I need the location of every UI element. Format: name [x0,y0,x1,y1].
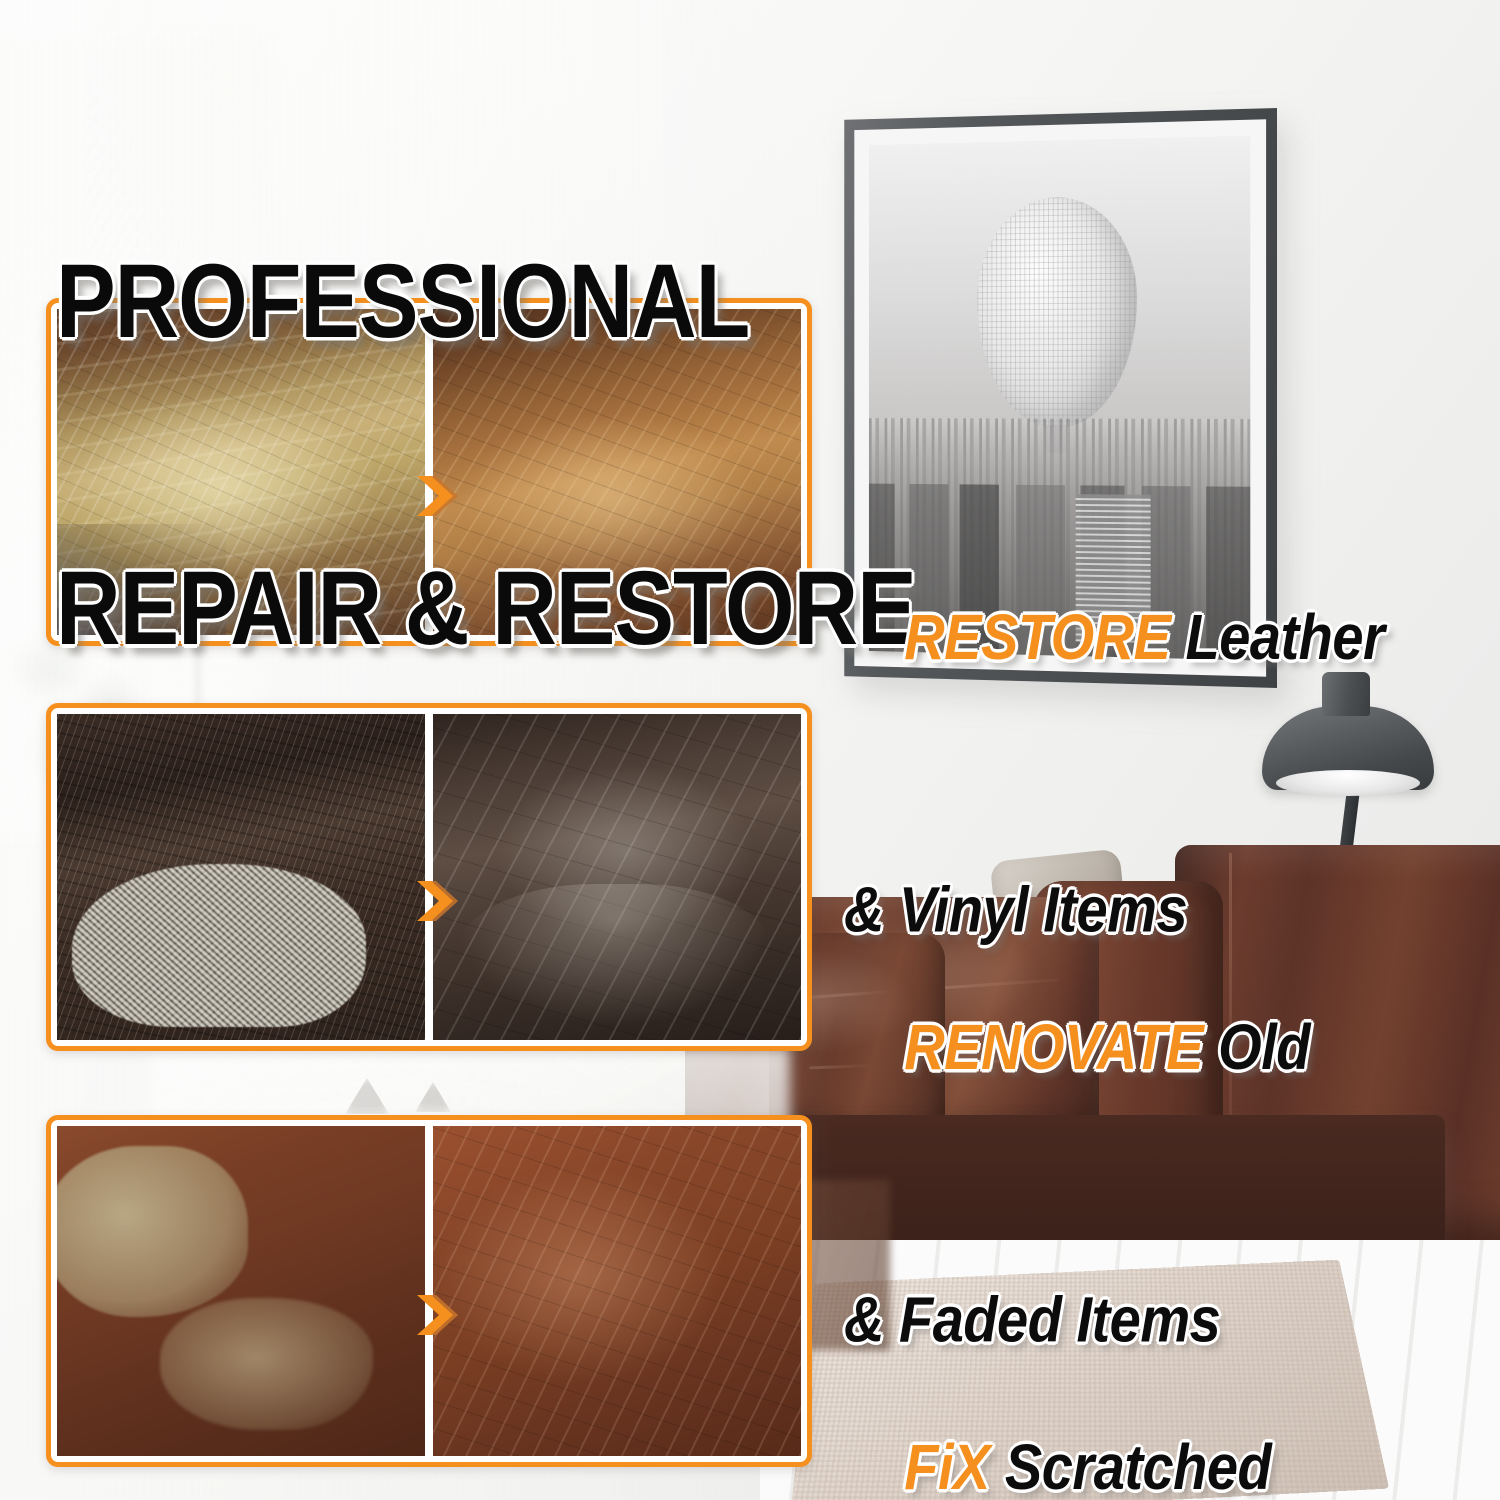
before-after-panel-brown-sofa [46,1115,812,1467]
callout-keyword-restore: RESTORE [904,601,1170,673]
callout-fix: FiX Scratched & Dried-out Areas [844,1228,1310,1500]
callout-rest-fix: Scratched [990,1431,1271,1500]
callout-keyword-fix: FiX [904,1431,990,1500]
page-title: PROFESSIONAL REPAIR & RESTORE [56,44,916,764]
callout-keyword-renovate: RENOVATE [904,1011,1203,1083]
callout-rest-renovate: Old [1203,1011,1310,1083]
headline-line-1: PROFESSIONAL [56,250,916,353]
before-photo-brown-sofa [57,1126,425,1456]
after-photo-brown-sofa [433,1126,801,1456]
callout-rest-restore: Leather [1170,601,1384,673]
headline-line-2: REPAIR & RESTORE [56,558,916,661]
